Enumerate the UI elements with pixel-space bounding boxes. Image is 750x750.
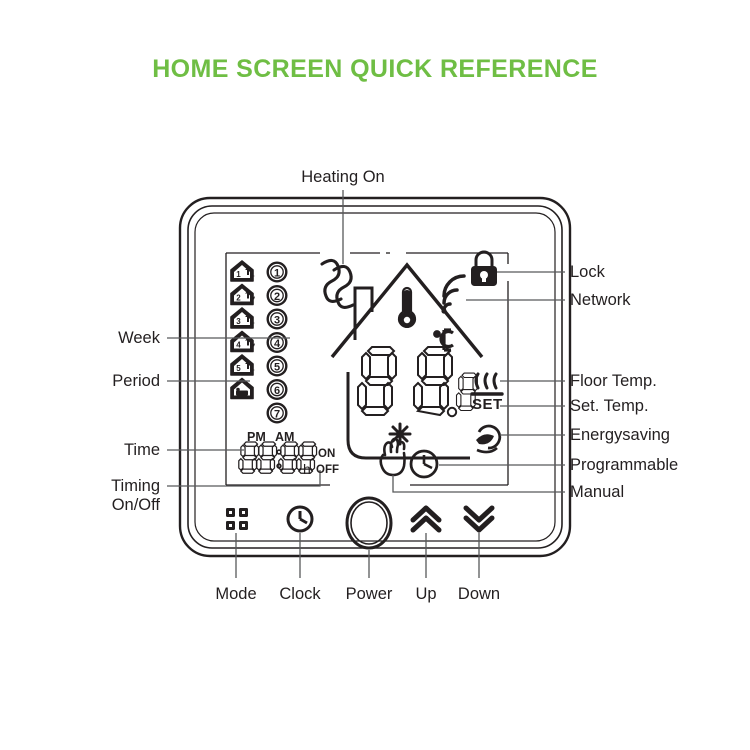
svg-text:7: 7 [274,408,280,420]
callout-floor-temp: Floor Temp. [570,372,657,391]
callout-time: Time [0,441,160,460]
button-label-down: Down [441,585,517,604]
week-number-5: 5 [268,357,287,376]
time-colon-dot [277,450,281,454]
svg-text:4: 4 [236,341,241,350]
callout-period: Period [0,372,160,391]
clock-button-icon[interactable] [288,507,312,531]
house-period-5-icon: 5 [231,355,255,375]
callout-lock: Lock [570,263,605,282]
mode-grid-icon[interactable] [226,508,248,530]
temperature-digits [358,347,477,416]
set-temp-label: SET [472,395,503,414]
svg-text:1: 1 [236,270,241,279]
svg-text:6: 6 [274,385,280,397]
svg-text:2: 2 [236,294,241,303]
svg-text:5: 5 [274,361,280,373]
callout-timing: Timing [0,477,160,496]
svg-text:3: 3 [236,317,241,326]
callout-leader-lines [167,190,565,578]
week-number-7: 7 [268,404,287,423]
button-label-clock: Clock [260,585,340,604]
svg-text:3: 3 [274,314,280,326]
clock-icon [411,451,437,477]
svg-text:1: 1 [274,267,280,279]
callout-set-temp: Set. Temp. [570,397,649,416]
house-period-1-icon: 1 [231,261,255,281]
time-am-label: AM [275,428,294,447]
callout-energysaving: Energysaving [570,426,670,445]
wifi-icon [441,276,464,314]
thermometer-icon [399,290,415,328]
callout-timing-onoff: On/Off [0,496,160,515]
time-pm-label: PM [247,428,266,447]
callout-week: Week [0,329,160,348]
heating-waves-icon [322,258,353,307]
house-period-4-icon: 4 [231,332,255,352]
svg-text:5: 5 [236,364,241,373]
week-number-3: 3 [268,310,287,329]
chevron-double-down-icon[interactable] [466,508,492,530]
house-period-2-icon: 2 [231,285,255,305]
quick-reference-diagram: HOME SCREEN QUICK REFERENCE [0,0,750,750]
callout-network: Network [570,291,631,310]
callout-programmable: Programmable [570,456,678,475]
week-number-4: 4 [268,333,287,352]
timing-off-label: OFF [316,461,339,480]
week-number-6: 6 [268,380,287,399]
energysaving-leaf-icon [476,426,500,452]
house-period-3-icon: 3 [231,308,255,328]
week-number-column: 1234567 [268,263,287,423]
chevron-double-up-icon[interactable] [413,508,439,530]
floor-heat-waves-icon [472,374,502,394]
week-number-1: 1 [268,263,287,282]
svg-text:2: 2 [274,291,280,303]
callout-heating-on: Heating On [280,168,406,187]
svg-text:4: 4 [274,338,281,350]
week-number-2: 2 [268,286,287,305]
callout-manual: Manual [570,483,624,502]
time-hour-unit: h [303,460,311,479]
period-icon-column: 12345 [231,261,255,399]
lock-icon [471,252,497,286]
